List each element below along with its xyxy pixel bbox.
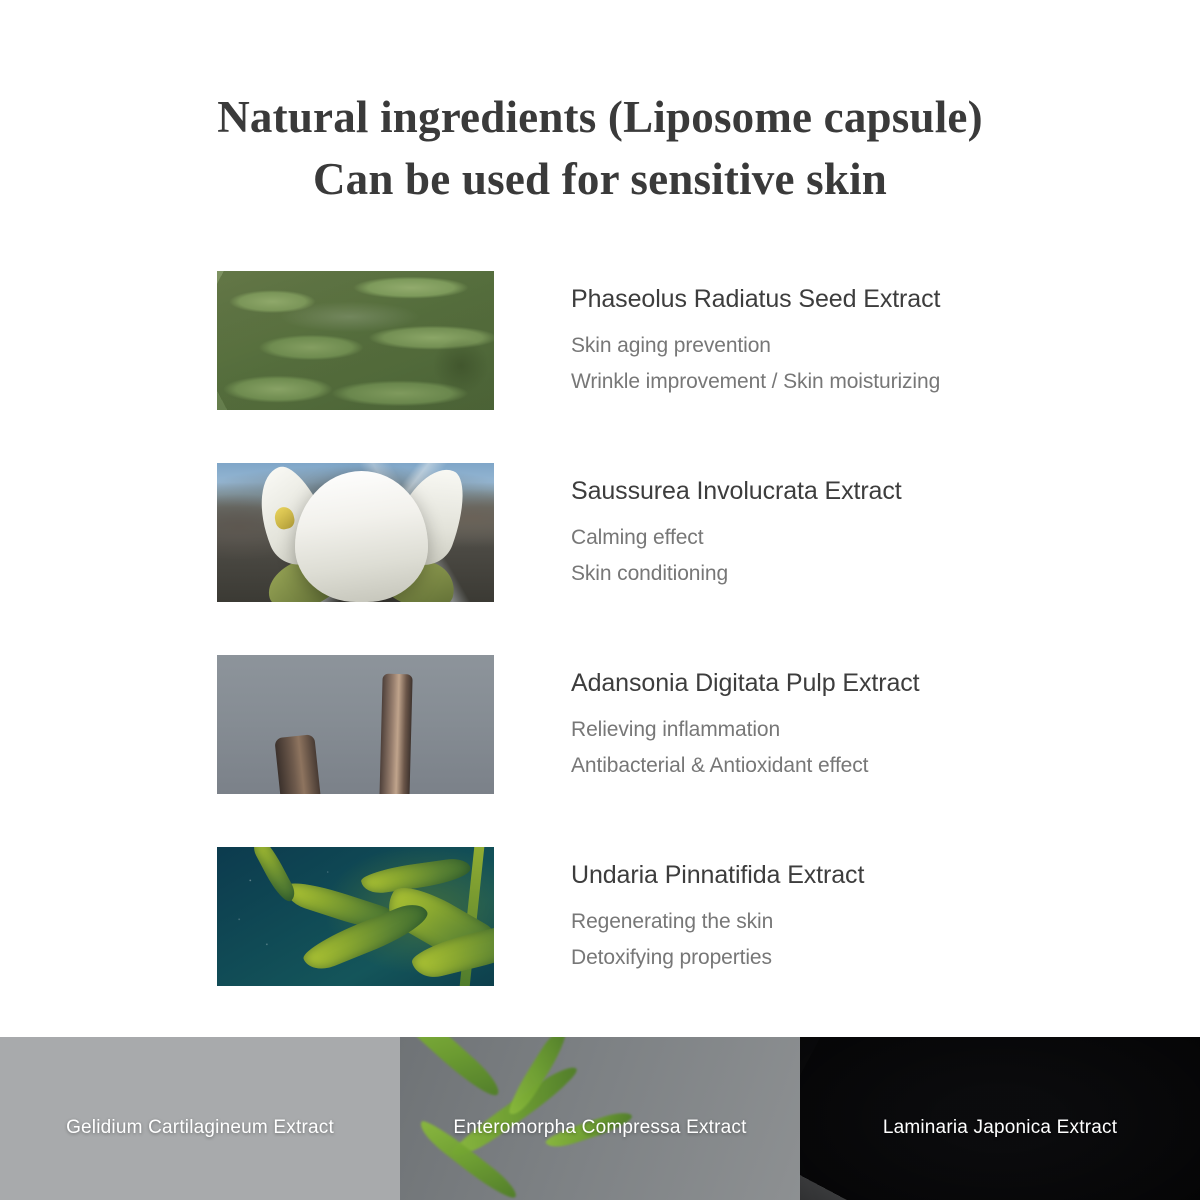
ingredient-name: Saussurea Involucrata Extract — [571, 476, 1171, 506]
ingredient-text-block: Undaria Pinnatifida Extract Regenerating… — [571, 860, 1171, 976]
ingredient-list: Phaseolus Radiatus Seed Extract Skin agi… — [0, 271, 1200, 1039]
enteromorpha-strand — [400, 1037, 505, 1103]
page-title: Natural ingredients (Liposome capsule) C… — [0, 86, 1200, 210]
ingredient-image-underwater-kelp — [217, 847, 494, 986]
ingredient-name: Undaria Pinnatifida Extract — [571, 860, 1171, 890]
ingredient-benefit-1: Skin aging prevention — [571, 328, 1171, 364]
page-title-line-2: Can be used for sensitive skin — [0, 148, 1200, 210]
ingredient-row: Undaria Pinnatifida Extract Regenerating… — [0, 847, 1200, 1039]
ingredient-text-block: Phaseolus Radiatus Seed Extract Skin agi… — [571, 284, 1171, 400]
ingredient-benefit-2: Detoxifying properties — [571, 940, 1171, 976]
ingredient-image-green-bean-pods — [217, 271, 494, 410]
underwater-kelp-photo — [217, 847, 494, 986]
ingredient-benefit-1: Relieving inflammation — [571, 712, 1171, 748]
ingredient-text-block: Adansonia Digitata Pulp Extract Relievin… — [571, 668, 1171, 784]
bottom-panel-enteromorpha: Enteromorpha Compressa Extract — [400, 1037, 800, 1200]
bottom-panel-label: Laminaria Japonica Extract — [800, 1116, 1200, 1140]
bottom-panel-label: Enteromorpha Compressa Extract — [400, 1116, 800, 1140]
ingredient-row: Saussurea Involucrata Extract Calming ef… — [0, 463, 1200, 655]
ingredient-benefit-1: Calming effect — [571, 520, 1171, 556]
bottom-panel-laminaria: Laminaria Japonica Extract — [800, 1037, 1200, 1200]
page-title-line-1: Natural ingredients (Liposome capsule) — [0, 86, 1200, 148]
green-bean-pods-photo — [217, 271, 494, 410]
ingredient-row: Phaseolus Radiatus Seed Extract Skin agi… — [0, 271, 1200, 463]
underwater-particles — [217, 847, 494, 986]
ingredient-benefit-2: Wrinkle improvement / Skin moisturizing — [571, 364, 1171, 400]
ingredient-image-baobab-trees — [217, 655, 494, 794]
ingredient-image-snow-lotus — [217, 463, 494, 602]
ingredient-benefit-2: Antibacterial & Antioxidant effect — [571, 748, 1171, 784]
baobab-trees-photo — [217, 655, 494, 794]
ingredient-row: Adansonia Digitata Pulp Extract Relievin… — [0, 655, 1200, 847]
ingredient-text-block: Saussurea Involucrata Extract Calming ef… — [571, 476, 1171, 592]
ingredient-name: Phaseolus Radiatus Seed Extract — [571, 284, 1171, 314]
bottom-panel-label: Gelidium Cartilagineum Extract — [0, 1116, 400, 1140]
ingredient-name: Adansonia Digitata Pulp Extract — [571, 668, 1171, 698]
ingredient-benefit-2: Skin conditioning — [571, 556, 1171, 592]
bottom-ingredient-strip: Gelidium Cartilagineum Extract Enteromor… — [0, 1037, 1200, 1200]
ingredient-benefit-1: Regenerating the skin — [571, 904, 1171, 940]
snow-lotus-flower-photo — [217, 463, 494, 602]
bottom-panel-gelidium: Gelidium Cartilagineum Extract — [0, 1037, 400, 1200]
baobab-bare-branches — [217, 655, 494, 794]
